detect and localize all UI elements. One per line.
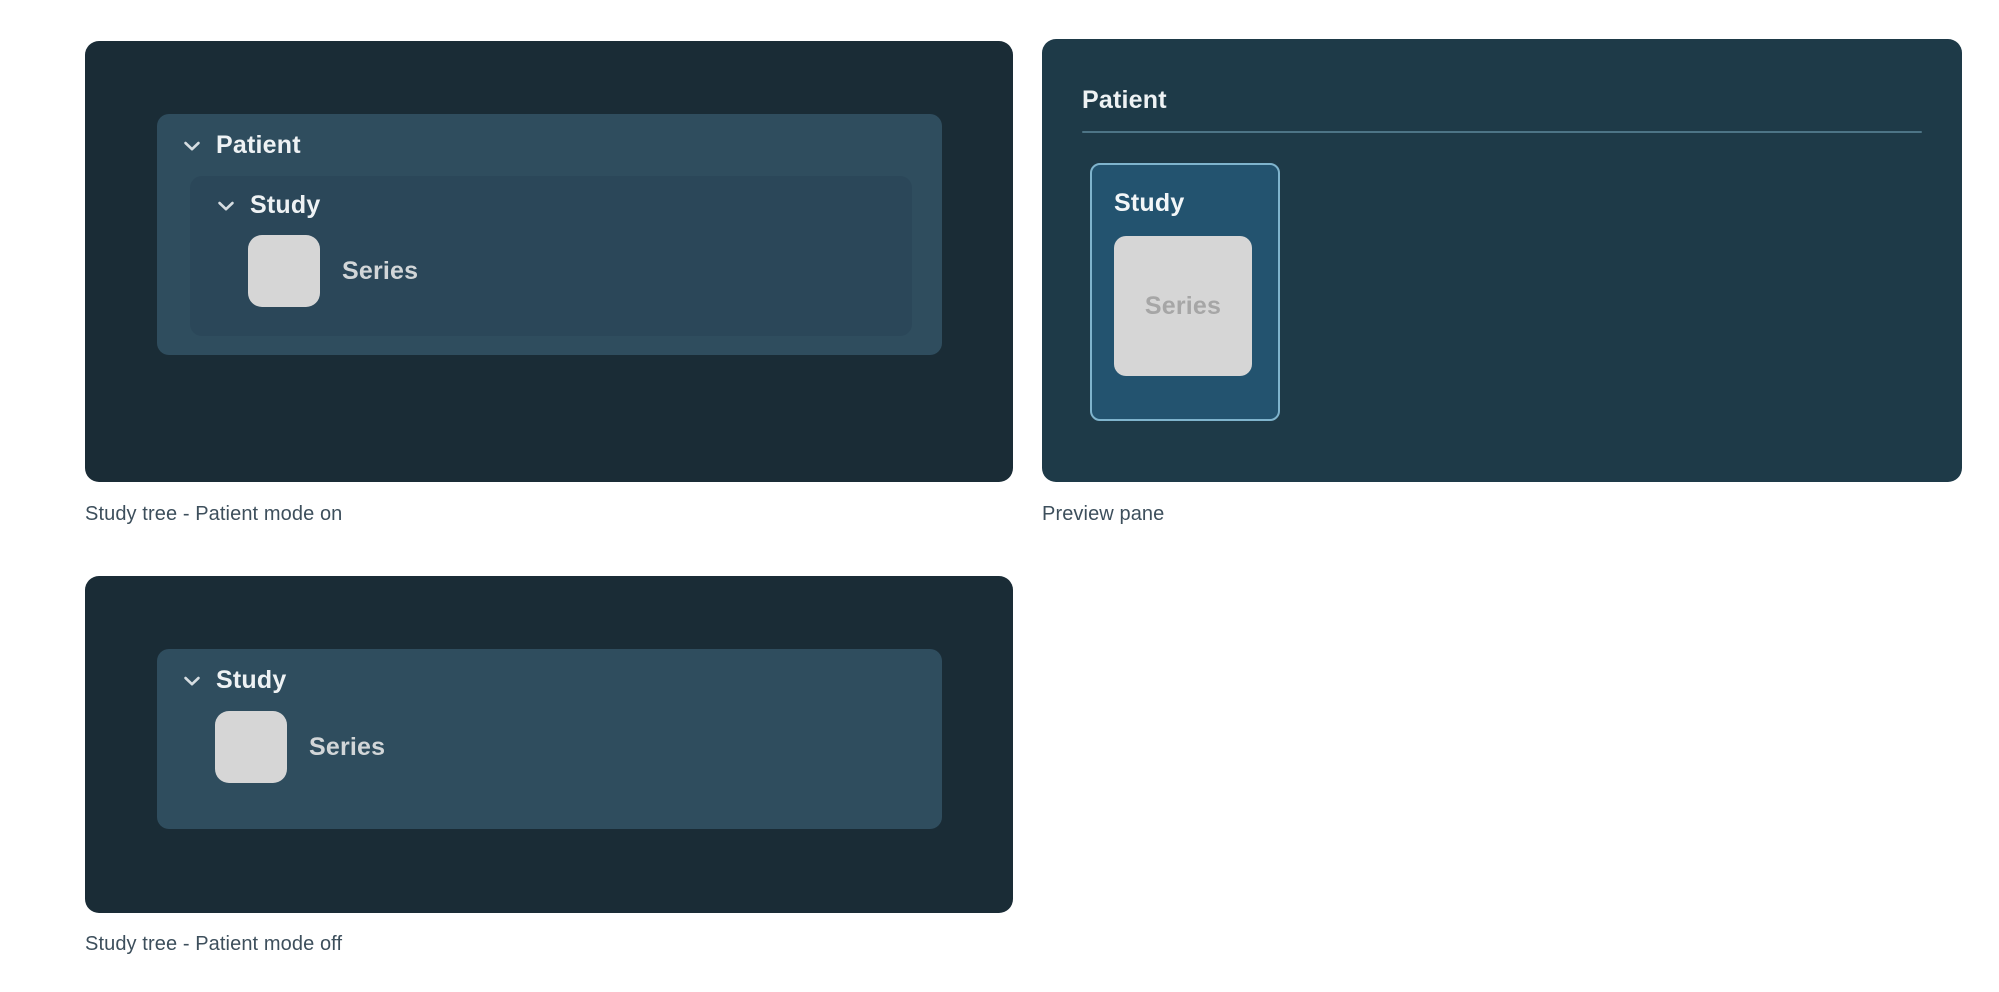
preview-study-card[interactable]: Study Series [1090,163,1280,421]
tree-node-patient[interactable]: Patient [180,133,301,158]
preview-series-thumbnail-label: Series [1145,294,1221,319]
figure-caption: Preview pane [1042,503,1164,526]
series-thumbnail[interactable] [248,235,320,307]
preview-series-thumbnail[interactable]: Series [1114,236,1252,376]
study-tree-panel-patient-off: Study Series [85,576,1013,913]
tree-node-study[interactable]: Study [180,668,286,693]
figure-caption: Study tree - Patient mode on [85,503,342,526]
preview-pane-divider [1082,131,1922,133]
preview-pane-panel: Patient Study Series [1042,39,1962,482]
figure-study-tree-patient-mode-off: Study Series Study tree - Patient mode o… [85,576,1013,913]
preview-study-card-title: Study [1114,191,1184,216]
series-thumbnail[interactable] [215,711,287,783]
preview-pane-title: Patient [1082,88,1167,113]
chevron-down-icon[interactable] [214,194,238,218]
tree-level-patient[interactable]: Patient Study Series [157,114,942,355]
chevron-down-icon[interactable] [180,669,204,693]
tree-node-study-label: Study [250,193,320,218]
tree-node-series-label: Series [309,735,385,760]
chevron-down-icon[interactable] [180,134,204,158]
study-tree-panel-patient-on: Patient Study Series [85,41,1013,482]
tree-level-study[interactable]: Study Series [190,176,912,336]
figure-caption: Study tree - Patient mode off [85,933,342,956]
figure-preview-pane: Patient Study Series Preview pane [1042,39,1962,482]
tree-node-series[interactable]: Series [248,235,418,307]
tree-node-study[interactable]: Study [214,193,320,218]
tree-node-patient-label: Patient [216,133,301,158]
figure-study-tree-patient-mode-on: Patient Study Series Study tree - [85,41,1013,482]
tree-level-study[interactable]: Study Series [157,649,942,829]
tree-node-series-label: Series [342,259,418,284]
tree-node-series[interactable]: Series [215,711,385,783]
tree-node-study-label: Study [216,668,286,693]
